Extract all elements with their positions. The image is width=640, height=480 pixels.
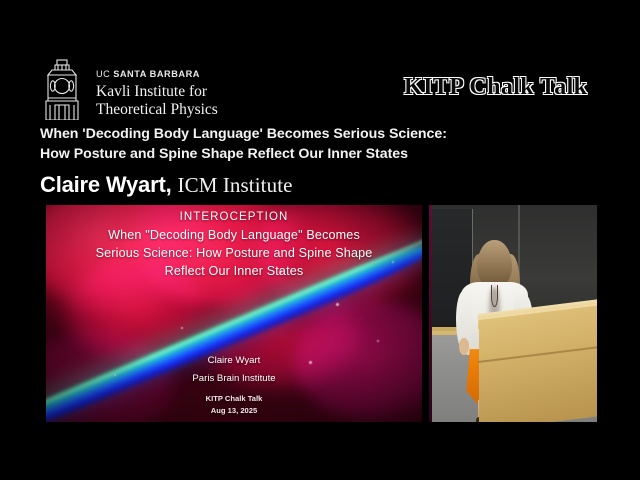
screen-canvas: UC SANTA BARBARA Kavli Institute for The… <box>0 0 640 480</box>
kavli-line-2: Theoretical Physics <box>96 101 218 118</box>
slide-author-block: Claire Wyart Paris Brain Institute <box>46 352 422 387</box>
speaker-name: Claire Wyart, <box>40 172 172 198</box>
slide-text-layer: INTEROCEPTION When "Decoding Body Langua… <box>46 205 422 422</box>
slide-heading: INTEROCEPTION <box>46 211 422 223</box>
slide-author-name: Claire Wyart <box>46 352 422 370</box>
hair-top <box>477 240 512 287</box>
talk-headline: When 'Decoding Body Language' Becomes Se… <box>40 124 600 164</box>
slide-title-line-3: Reflect Our Inner States <box>56 263 412 281</box>
slide-title-line-1: When "Decoding Body Language" Becomes <box>56 227 412 245</box>
slide-title-line-2: Serious Science: How Posture and Spine S… <box>56 245 412 263</box>
headline-line-2: How Posture and Spine Shape Reflect Our … <box>40 144 600 164</box>
left-hand <box>459 338 469 354</box>
presentation-slide: INTEROCEPTION When "Decoding Body Langua… <box>46 205 422 422</box>
slide-footer-event: KITP Chalk Talk <box>46 393 422 404</box>
kavli-line-1: Kavli Institute for <box>96 83 207 100</box>
kavli-institute-name: Kavli Institute for Theoretical Physics <box>96 83 218 119</box>
slide-title: When "Decoding Body Language" Becomes Se… <box>56 227 412 281</box>
speaker-byline: Claire Wyart, ICM Institute <box>40 172 293 198</box>
uc-prefix: UC <box>96 69 110 79</box>
slide-author-institute: Paris Brain Institute <box>46 370 422 388</box>
kitp-logo: UC SANTA BARBARA Kavli Institute for The… <box>38 58 218 120</box>
slide-footer-date: Aug 13, 2025 <box>46 405 422 416</box>
headline-line-1: When 'Decoding Body Language' Becomes Se… <box>40 124 600 144</box>
kitp-logo-text: UC SANTA BARBARA Kavli Institute for The… <box>96 58 218 119</box>
panel-left-edge <box>429 205 432 422</box>
kitp-tower-icon <box>38 58 86 120</box>
slide-footer-block: KITP Chalk Talk Aug 13, 2025 <box>46 393 422 416</box>
santa-barbara-text: SANTA BARBARA <box>113 69 200 79</box>
uc-santa-barbara-label: UC SANTA BARBARA <box>96 70 218 79</box>
speaker-video-panel <box>429 205 597 422</box>
podium <box>479 303 597 422</box>
series-title: KITP Chalk Talk <box>404 74 587 101</box>
speaker-affiliation: ICM Institute <box>178 173 293 198</box>
